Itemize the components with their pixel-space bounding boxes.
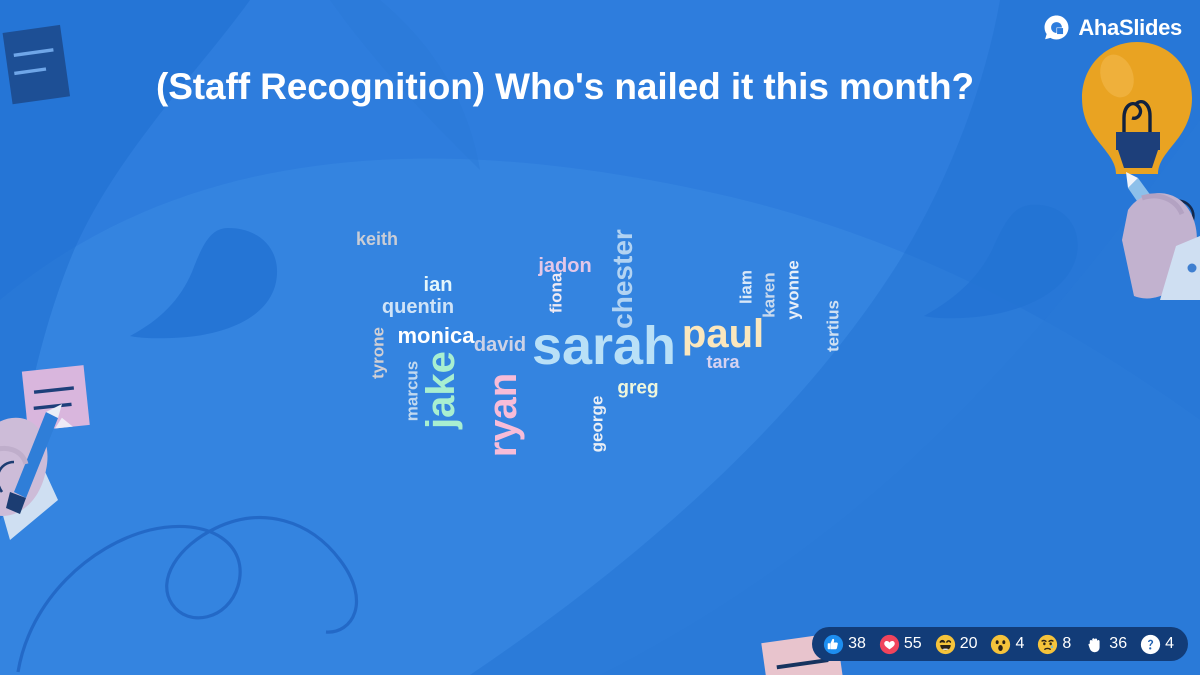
word-cloud-item[interactable]: george — [589, 396, 606, 453]
reaction-question[interactable]: 4 — [1140, 634, 1174, 655]
thumbs-up-icon — [823, 634, 844, 655]
reaction-love[interactable]: 55 — [879, 634, 922, 655]
word-cloud-item[interactable]: quentin — [382, 297, 454, 317]
reactions-bar[interactable]: 38552048364 — [812, 627, 1188, 661]
reaction-count: 36 — [1109, 635, 1127, 653]
reaction-wow[interactable]: 4 — [990, 634, 1024, 655]
word-cloud-item[interactable]: keith — [356, 230, 398, 248]
word-cloud-item[interactable]: jake — [421, 351, 461, 429]
brand-name: AhaSlides — [1078, 15, 1182, 41]
raised-hand-icon — [1084, 634, 1105, 655]
reaction-haha[interactable]: 20 — [935, 634, 978, 655]
reaction-count: 4 — [1165, 635, 1174, 653]
word-cloud-item[interactable]: liam — [738, 270, 755, 304]
word-cloud-item[interactable]: marcus — [404, 361, 421, 421]
word-cloud-item[interactable]: fiona — [548, 273, 565, 314]
slide-canvas: AhaSlides (Staff Recognition) Who's nail… — [0, 0, 1200, 675]
word-cloud-item[interactable]: sarah — [532, 319, 676, 373]
word-cloud-item[interactable]: tara — [706, 353, 739, 371]
slide-title: (Staff Recognition) Who's nailed it this… — [0, 66, 1200, 109]
word-cloud-item[interactable]: tyrone — [370, 327, 387, 379]
word-cloud-item[interactable]: tertius — [825, 300, 842, 352]
reaction-count: 55 — [904, 635, 922, 653]
reaction-like[interactable]: 38 — [823, 634, 866, 655]
word-cloud-item[interactable]: ian — [424, 275, 453, 295]
brand-logo[interactable]: AhaSlides — [1043, 14, 1182, 41]
word-cloud-item[interactable]: greg — [617, 379, 658, 398]
word-cloud-item[interactable]: ryan — [483, 373, 523, 458]
word-cloud-item[interactable]: paul — [682, 314, 764, 354]
reaction-sad[interactable]: 8 — [1037, 634, 1071, 655]
reaction-count: 38 — [848, 635, 866, 653]
heart-icon — [879, 634, 900, 655]
reaction-count: 20 — [960, 635, 978, 653]
aha-speech-bubble-icon — [1043, 14, 1070, 41]
laughing-face-icon — [935, 634, 956, 655]
word-cloud-item[interactable]: chester — [609, 229, 637, 329]
reaction-count: 4 — [1015, 635, 1024, 653]
reaction-count: 8 — [1062, 635, 1071, 653]
word-cloud-item[interactable]: monica — [397, 325, 474, 347]
reaction-raise-hand[interactable]: 36 — [1084, 634, 1127, 655]
word-cloud-item[interactable]: yvonne — [785, 260, 802, 320]
word-cloud-item[interactable]: david — [474, 335, 526, 355]
word-cloud-item[interactable]: karen — [761, 272, 778, 317]
surprised-face-icon — [990, 634, 1011, 655]
question-mark-icon — [1140, 634, 1161, 655]
sad-face-icon — [1037, 634, 1058, 655]
